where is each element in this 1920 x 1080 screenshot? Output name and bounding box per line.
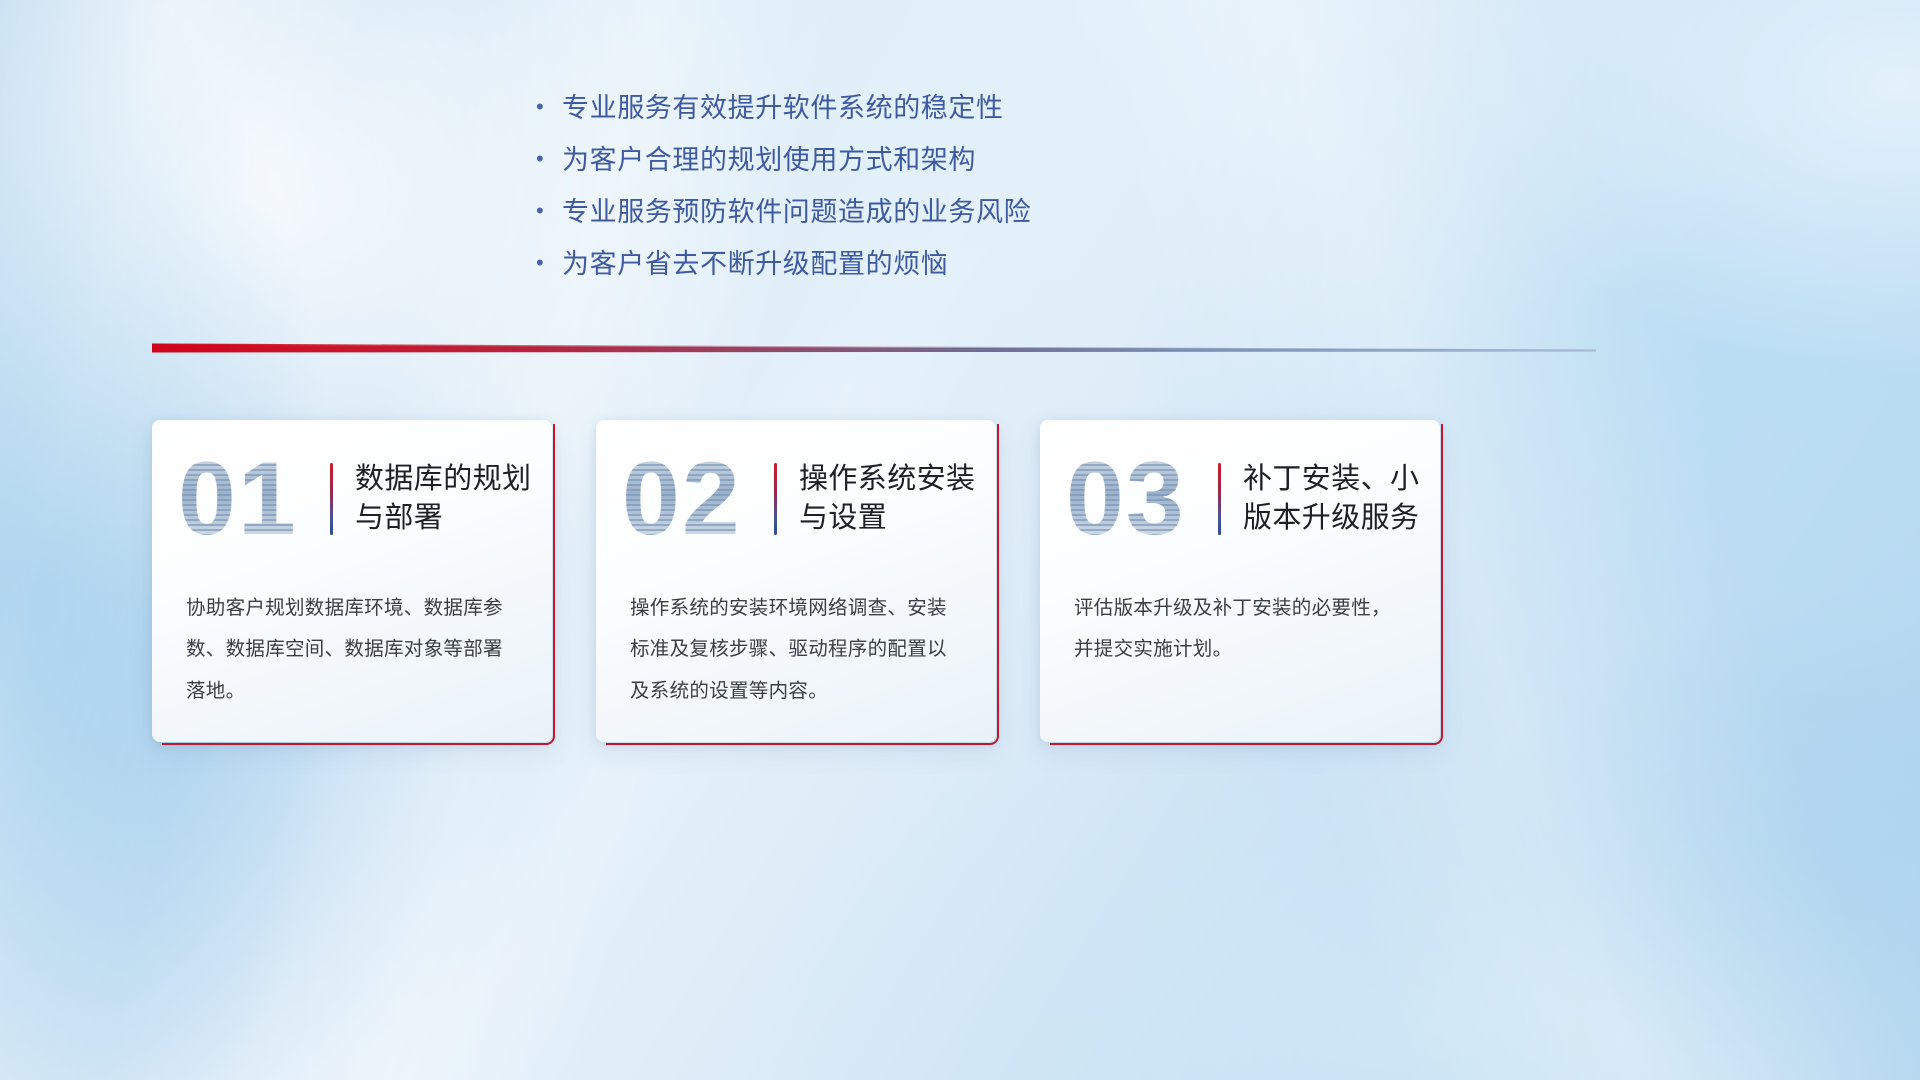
bullet-dot-icon: • (536, 148, 562, 170)
bullet-dot-icon: • (536, 200, 562, 222)
bullet-text: 为客户合理的规划使用方式和架构 (562, 144, 976, 178)
card-header: 03 补丁安装、小版本升级服务 (1040, 420, 1440, 578)
card-title: 补丁安装、小版本升级服务 (1243, 460, 1440, 538)
divider-taper-icon (152, 340, 1596, 362)
service-card[interactable]: 01 数据库的规划与部署 协助客户规划数据库环境、数据库参数、数据库空间、数据库… (152, 420, 552, 742)
service-card[interactable]: 03 补丁安装、小版本升级服务 评估版本升级及补丁安装的必要性，并提交实施计划。 (1040, 420, 1440, 742)
card-number: 02 (622, 444, 772, 554)
list-item: • 为客户省去不断升级配置的烦恼 (536, 248, 1176, 300)
benefits-bullet-list: • 专业服务有效提升软件系统的稳定性 • 为客户合理的规划使用方式和架构 • 专… (536, 92, 1176, 300)
card-separator-bar (1218, 463, 1221, 535)
card-number: 03 (1066, 444, 1216, 554)
service-card-list: 01 数据库的规划与部署 协助客户规划数据库环境、数据库参数、数据库空间、数据库… (152, 420, 1764, 746)
card-title: 数据库的规划与部署 (355, 460, 552, 538)
card-title: 操作系统安装与设置 (799, 460, 996, 538)
section-divider (152, 340, 1596, 362)
list-item: • 专业服务预防软件问题造成的业务风险 (536, 196, 1176, 248)
bullet-text: 为客户省去不断升级配置的烦恼 (562, 248, 948, 282)
card-description: 操作系统的安装环境网络调查、安装标准及复核步骤、驱动程序的配置以及系统的设置等内… (596, 588, 996, 712)
slide-canvas: • 专业服务有效提升软件系统的稳定性 • 为客户合理的规划使用方式和架构 • 专… (0, 0, 1920, 1080)
card-separator-bar (330, 463, 333, 535)
card-header: 02 操作系统安装与设置 (596, 420, 996, 578)
card-description: 评估版本升级及补丁安装的必要性，并提交实施计划。 (1040, 588, 1440, 671)
service-card[interactable]: 02 操作系统安装与设置 操作系统的安装环境网络调查、安装标准及复核步骤、驱动程… (596, 420, 996, 742)
card-separator-bar (774, 463, 777, 535)
bullet-text: 专业服务有效提升软件系统的稳定性 (562, 92, 1004, 126)
bullet-text: 专业服务预防软件问题造成的业务风险 (562, 196, 1031, 230)
list-item: • 为客户合理的规划使用方式和架构 (536, 144, 1176, 196)
bullet-dot-icon: • (536, 96, 562, 118)
card-number: 01 (178, 444, 328, 554)
card-header: 01 数据库的规划与部署 (152, 420, 552, 578)
list-item: • 专业服务有效提升软件系统的稳定性 (536, 92, 1176, 144)
bullet-dot-icon: • (536, 252, 562, 274)
card-description: 协助客户规划数据库环境、数据库参数、数据库空间、数据库对象等部署落地。 (152, 588, 552, 712)
